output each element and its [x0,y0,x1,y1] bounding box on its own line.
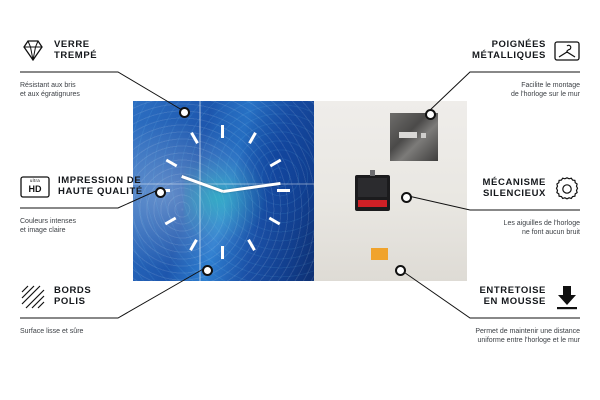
hanger-screw [421,133,426,138]
polished-edge-icon [20,284,46,310]
clock-tick [221,125,224,138]
mechanism-shaft [370,170,375,176]
callout-title-line2: POLIS [54,296,91,307]
callout-desc-line1: Couleurs intenses [20,217,76,226]
callout-desc-line1: Les aiguilles de l'horloge [504,219,580,228]
metal-hanger-plate [390,113,438,161]
anchor-dot-entretoise [395,265,406,276]
callout-title-line2: MÉTALLIQUES [472,50,546,61]
mechanism-body [358,178,387,197]
callout-title-line2: SILENCIEUX [483,188,546,199]
anchor-dot-mecanisme [401,192,412,203]
clock-tick [277,189,290,192]
callout-desc-line2: de l'horloge sur le mur [511,90,580,99]
callout-title-line2: HAUTE QUALITÉ [58,186,143,197]
teal-glow [184,155,267,241]
callout-title-line1: VERRE [54,39,97,50]
callout-title-line1: POIGNÉES [472,39,546,50]
infographic-canvas: VERRE TREMPÉ Résistant aux bris et aux é… [0,0,600,400]
mechanism-label [358,200,387,207]
callout-title-line1: BORDS [54,285,91,296]
callout-desc-line2: et image claire [20,226,76,235]
clock-back-panel [314,101,467,281]
gear-icon [554,176,580,202]
anchor-dot-impression [155,187,166,198]
anchor-dot-poignees [425,109,436,120]
callout-desc-line1: Permet de maintenir une distance [475,327,580,336]
anchor-dot-verre-trempe [179,107,190,118]
foam-spacer [371,248,388,260]
callout-title-line2: TREMPÉ [54,50,97,61]
callout-title-line1: ENTRETOISE [479,285,546,296]
ultra-hd-icon-label-top: ultra [20,178,50,183]
callout-title-line1: IMPRESSION DE [58,175,143,186]
clock-tick [221,246,224,259]
callout-desc-line2: uniforme entre l'horloge et le mur [475,336,580,345]
hanger-slot [399,132,417,138]
diamond-icon [20,38,46,64]
callout-desc-line1: Résistant aux bris [20,81,80,90]
callout-desc-line2: et aux égratignures [20,90,80,99]
panel-seam-horizontal [133,183,314,185]
product-image [133,101,467,281]
ultra-hd-icon: ultra HD [20,174,46,200]
hanger-icon [554,38,580,64]
anchor-dot-bords-polis [202,265,213,276]
callout-desc-line1: Facilite le montage [511,81,580,90]
panel-seam-vertical [199,101,201,281]
callout-title-line2: EN MOUSSE [479,296,546,307]
ultra-hd-icon-label-bottom: HD [20,184,50,194]
callout-title-line1: MÉCANISME [483,177,546,188]
spacer-arrow-icon [554,284,580,310]
callout-desc-line1: Surface lisse et sûre [20,327,83,336]
clock-mechanism [355,175,390,211]
callout-desc-line2: ne font aucun bruit [504,228,580,237]
